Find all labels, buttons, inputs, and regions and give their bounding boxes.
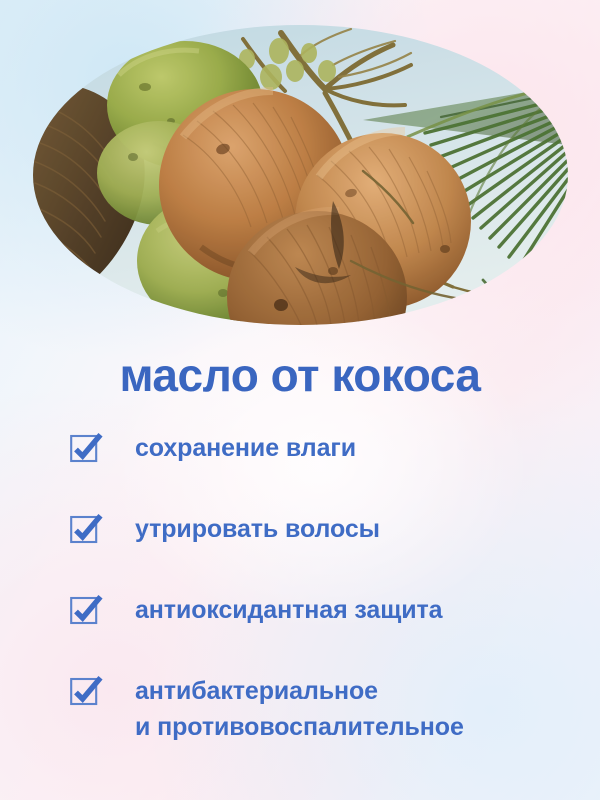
list-item: антиоксидантная защита (0, 592, 600, 628)
checkbox-checked-icon (70, 595, 102, 625)
checkbox-checked-icon (70, 676, 102, 706)
hero-image-ellipse (33, 25, 568, 325)
list-item-label: антиоксидантная защита (135, 592, 442, 628)
coconut-palm-photo (33, 25, 568, 325)
checkbox-checked-icon (70, 433, 102, 463)
checkbox-checked-icon (70, 514, 102, 544)
coconut-oil-poster: масло от кокоса сохранение влаги утриров… (0, 0, 600, 800)
list-item-label: утрировать волосы (135, 511, 380, 547)
list-item: антибактериальное и противовоспалительно… (0, 673, 600, 745)
page-title: масло от кокоса (0, 352, 600, 398)
list-item: утрировать волосы (0, 511, 600, 547)
benefits-list: сохранение влаги утрировать волосы антио… (0, 430, 600, 745)
list-item: сохранение влаги (0, 430, 600, 466)
list-item-label: сохранение влаги (135, 430, 356, 466)
list-item-label: антибактериальное и противовоспалительно… (135, 673, 464, 745)
